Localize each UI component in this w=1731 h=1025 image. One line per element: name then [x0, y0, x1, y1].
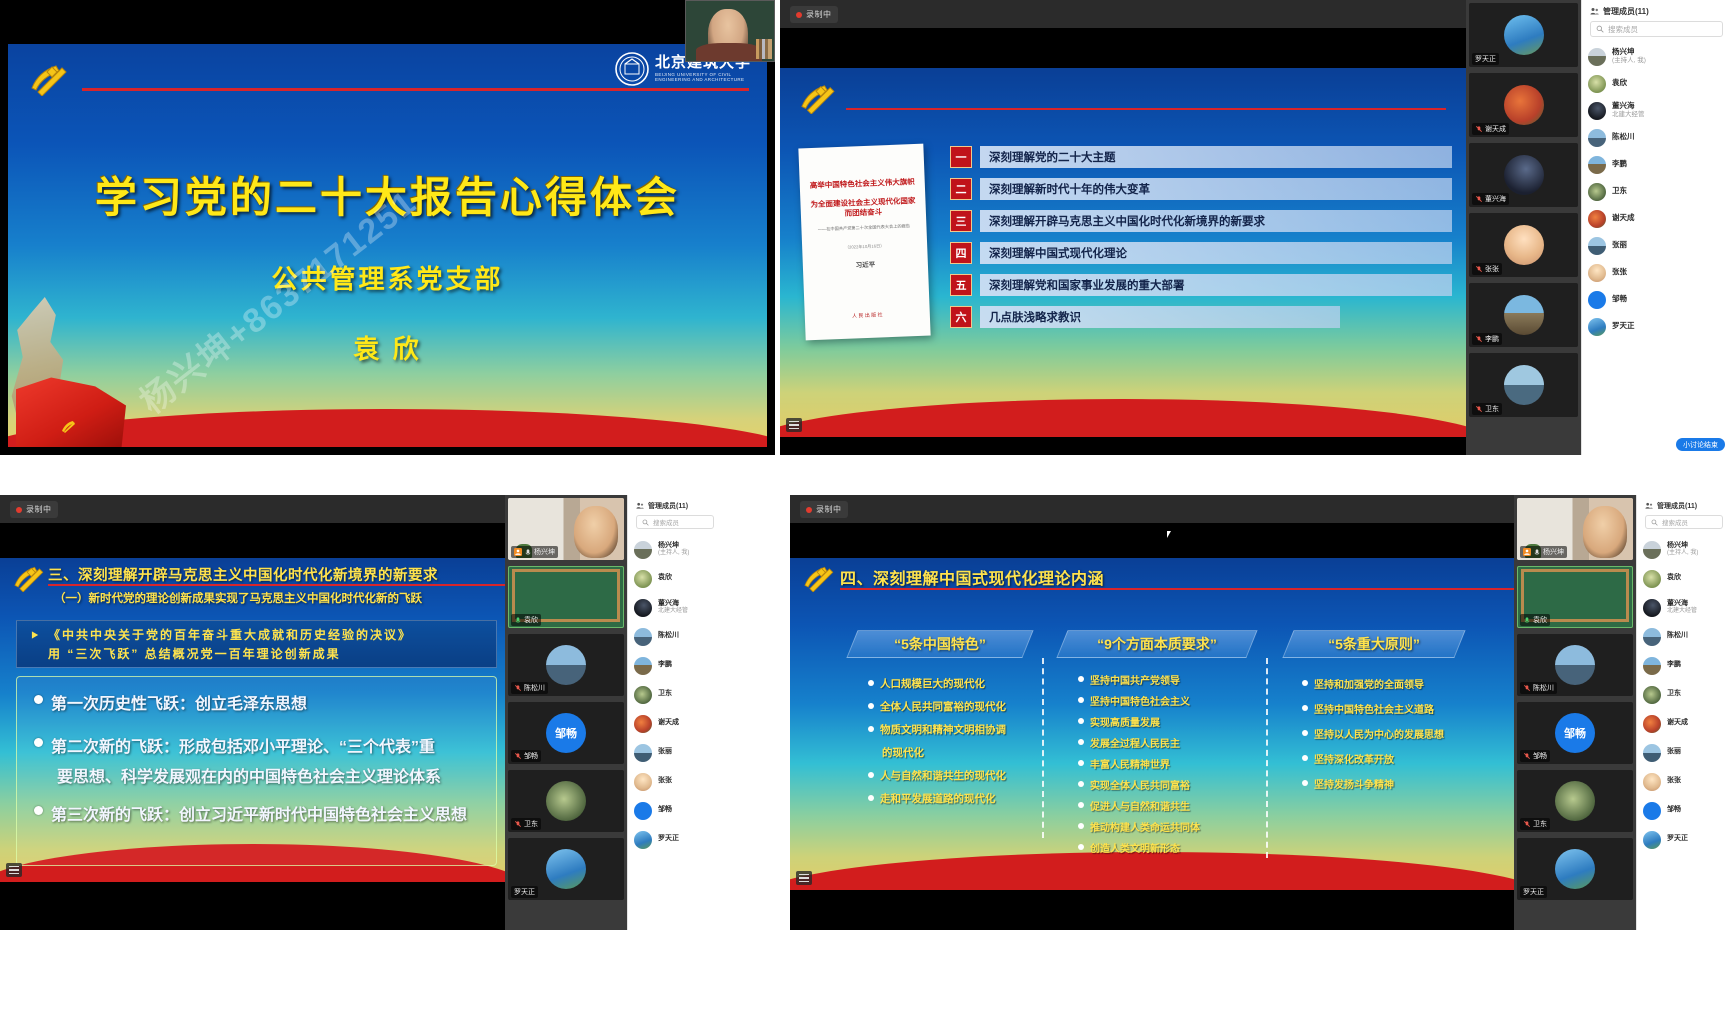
window-modernization: 录制中 四、深刻理解中国式现代化理论内涵	[790, 495, 1731, 930]
avatar	[634, 686, 652, 704]
agenda-item-label: 深刻理解开辟马克思主义中国化时代化新境界的新要求	[980, 210, 1452, 232]
tile-label: 杨兴坤	[511, 546, 558, 558]
participant-name: 陈松川	[1612, 133, 1635, 142]
participant-face	[574, 506, 618, 558]
column-item-text: 的现代化	[882, 745, 924, 760]
column-item: 全体人民共同富裕的现代化	[868, 699, 1006, 714]
agenda-item-number: 六	[950, 306, 972, 328]
mic-muted-icon	[1523, 820, 1531, 828]
bullet-dot-icon	[1302, 755, 1308, 761]
meeting-topbar-modernization: 录制中	[790, 495, 1514, 523]
participant-row[interactable]: 董兴海 北建大经管	[1588, 97, 1725, 124]
book-publisher: 人 民 出 版 社	[832, 310, 902, 320]
film-tile-active-speaker[interactable]: 袁欣	[508, 566, 624, 628]
avatar	[1643, 773, 1661, 791]
avatar	[634, 831, 652, 849]
search-placeholder-text: 搜索成员	[1662, 517, 1688, 527]
mod-divider	[840, 588, 1514, 590]
participant-name: 杨兴坤	[1667, 542, 1698, 550]
participant-name: 杨兴坤	[658, 542, 689, 550]
avatar	[1504, 295, 1544, 335]
participant-name: 邹畅	[1667, 806, 1681, 814]
column-item: 坚持中国共产党领导	[1078, 672, 1180, 687]
filmstrip-agenda[interactable]: 罗天正 谢天成 董兴海	[1466, 0, 1581, 455]
participants-panel-top: 管理成员(11) 搜索成员 杨兴坤 (主持人, 我)	[1581, 0, 1731, 455]
people-icon	[1645, 502, 1653, 510]
participant-row[interactable]: 张张	[634, 767, 716, 796]
tile-participant-name: 卫东	[1533, 819, 1547, 829]
book-subtitle: ——在中国共产党第二十次全国代表大会上的报告	[816, 223, 911, 233]
bullet-dot-icon	[1302, 705, 1308, 711]
search-icon	[1651, 519, 1658, 526]
presentation-organization: 公共管理系党支部	[8, 259, 767, 296]
book-title-line1: 高举中国特色社会主义伟大旗帜	[810, 177, 915, 191]
recording-badge: 录制中	[790, 6, 838, 23]
window-agenda: 录制中 高举中国	[780, 0, 1731, 455]
participant-name: 张张	[658, 777, 672, 785]
participant-row[interactable]: 李鹏	[1588, 151, 1725, 178]
participant-name: 袁欣	[1612, 79, 1627, 88]
mic-muted-icon	[514, 684, 522, 692]
participant-row[interactable]: 谢天成	[634, 709, 716, 738]
party-emblem-icon	[796, 82, 838, 114]
participant-role: 北建大经管	[1667, 608, 1697, 615]
tile-participant-name: 杨兴坤	[1543, 547, 1564, 557]
column-item-text: 坚持中国共产党领导	[1090, 672, 1180, 687]
bullet-dot-icon	[1078, 844, 1084, 850]
column-item-text: 实现高质量发展	[1090, 714, 1160, 729]
agenda-item-number: 五	[950, 274, 972, 296]
avatar	[1643, 744, 1661, 762]
participant-name: 谢天成	[1667, 719, 1688, 727]
slide-menu-icon[interactable]	[796, 871, 812, 885]
agenda-item-row[interactable]: 六 几点肤浅略求教识	[950, 306, 1340, 328]
bullet-dot-icon	[868, 703, 874, 709]
avatar	[634, 541, 652, 559]
participant-role: (主持人, 我)	[1612, 57, 1646, 64]
participant-name: 李鹏	[658, 661, 672, 669]
agenda-item-number: 一	[950, 146, 972, 168]
participant-name: 邹畅	[1612, 295, 1627, 304]
film-tile[interactable]: 谢天成	[1469, 73, 1578, 137]
column-item: 坚持深化改革开放	[1302, 751, 1394, 766]
film-tile[interactable]: 罗天正	[1517, 838, 1633, 900]
tile-label: 陈松川	[511, 682, 548, 694]
film-tile[interactable]: 董兴海	[1469, 143, 1578, 207]
bullet-dot-icon	[34, 806, 43, 815]
book-cover: 高举中国特色社会主义伟大旗帜 为全面建设社会主义现代化国家而团结奋斗 ——在中国…	[798, 144, 930, 341]
avatar	[1643, 802, 1661, 820]
film-tile[interactable]: 卫东	[508, 770, 624, 832]
flag-emblem-icon	[60, 419, 76, 433]
bullet-text: 要思想、科学发展观在内的中国特色社会主义理论体系	[57, 763, 441, 787]
quote-band: 《中共中央关于党的百年奋斗重大成就和历史经验的决议》 用 “三次飞跃” 总结概况…	[16, 620, 497, 668]
participants-header: 管理成员(11)	[628, 495, 722, 515]
participant-row[interactable]: 罗天正	[1643, 825, 1725, 854]
avatar	[1588, 129, 1606, 147]
column-item: 坚持发扬斗争精神	[1302, 776, 1394, 791]
slide-menu-icon[interactable]	[6, 863, 22, 877]
participant-row[interactable]: 邹畅	[634, 796, 716, 825]
participant-row[interactable]: 杨兴坤 (主持人, 我)	[634, 535, 716, 564]
agenda-stage: 录制中 高举中国	[780, 0, 1466, 455]
slide-modernization: 四、深刻理解中国式现代化理论内涵 “5条中国特色” 人口规模巨大的现代化 全体人…	[790, 558, 1514, 890]
university-name-en-2: ENGINEERING AND ARCHITECTURE	[655, 77, 751, 83]
participant-row[interactable]: 卫东	[1588, 178, 1725, 205]
avatar	[634, 570, 652, 588]
participant-row[interactable]: 邹畅	[1588, 286, 1725, 313]
avatar	[634, 744, 652, 762]
avatar	[1588, 318, 1606, 336]
column-item: 推动构建人类命运共同体	[1078, 819, 1200, 834]
column-header: “9个方面本质要求”	[1062, 630, 1252, 658]
agenda-item-row[interactable]: 一 深刻理解党的二十大主题	[950, 146, 1452, 168]
avatar	[634, 599, 652, 617]
participant-face	[1583, 506, 1627, 558]
bullet-item: 第一次历史性飞跃：创立毛泽东思想	[34, 690, 307, 714]
participant-name: 罗天正	[1667, 835, 1688, 843]
bullet-text: 第三次新的飞跃：创立习近平新时代中国特色社会主义思想	[51, 801, 467, 825]
bullet-dot-icon	[1078, 760, 1084, 766]
participant-row[interactable]: 陈松川	[1643, 622, 1725, 651]
mic-muted-icon	[514, 752, 522, 760]
column-item-text: 坚持和加强党的全面领导	[1314, 676, 1424, 691]
mouse-cursor-icon	[1167, 531, 1171, 538]
flag-decor	[16, 373, 126, 447]
column-separator	[1042, 658, 1044, 838]
recording-badge: 录制中	[10, 501, 58, 518]
column-item-text: 发展全过程人民民主	[1090, 735, 1180, 750]
mic-muted-icon	[1475, 405, 1483, 413]
tile-participant-name: 陈松川	[524, 683, 545, 693]
search-icon	[1596, 25, 1604, 33]
film-tile[interactable]: 李鹏	[1469, 283, 1578, 347]
participant-name: 卫东	[1612, 187, 1627, 196]
agenda-item-number: 二	[950, 178, 972, 200]
avatar	[634, 657, 652, 675]
participant-name: 袁欣	[658, 574, 672, 582]
participant-name: 罗天正	[1612, 322, 1635, 331]
avatar	[1504, 155, 1544, 195]
book-title-line2: 为全面建设社会主义现代化国家而团结奋斗	[810, 196, 916, 220]
agenda-item-row[interactable]: 二 深刻理解新时代十年的伟大变革	[950, 178, 1452, 200]
participants-count-label: 管理成员(11)	[1603, 6, 1649, 17]
slide-divider	[82, 88, 749, 91]
end-discussion-button[interactable]: 小讨论结束	[1676, 438, 1725, 451]
mic-icon	[524, 548, 532, 556]
tile-label: 卫东	[511, 818, 541, 830]
bullet-item: 第二次新的飞跃：形成包括邓小平理论、“三个代表”重	[34, 733, 435, 757]
mic-muted-icon	[514, 820, 522, 828]
film-tile[interactable]: 邹畅 邹畅	[1517, 702, 1633, 764]
avatar	[546, 645, 586, 685]
participant-row[interactable]: 董兴海 北建大经管	[1643, 593, 1725, 622]
participant-row[interactable]: 谢天成	[1643, 709, 1725, 738]
avatar	[634, 773, 652, 791]
avatar	[546, 849, 586, 889]
bullet-dot-icon	[1302, 680, 1308, 686]
agenda-item-label: 深刻理解中国式现代化理论	[980, 242, 1452, 264]
mic-icon	[1533, 548, 1541, 556]
tile-participant-name: 卫东	[524, 819, 538, 829]
film-tile[interactable]: 张张	[1469, 213, 1578, 277]
film-tile[interactable]: 杨兴坤	[508, 498, 624, 560]
participant-row[interactable]: 袁欣	[1588, 70, 1725, 97]
participants-list[interactable]: 杨兴坤 (主持人, 我) 袁欣 董兴海 北建大经管	[628, 535, 722, 930]
tile-label: 杨兴坤	[1520, 546, 1567, 558]
avatar	[634, 715, 652, 733]
participant-name: 谢天成	[658, 719, 679, 727]
tile-participant-name: 罗天正	[1475, 54, 1496, 64]
film-tile[interactable]: 罗天正	[1469, 3, 1578, 67]
avatar	[1643, 628, 1661, 646]
participant-name: 董兴海	[1667, 600, 1697, 608]
search-icon	[642, 519, 649, 526]
avatar	[1588, 102, 1606, 120]
participant-row[interactable]: 卫东	[634, 680, 716, 709]
tile-participant-name: 李鹏	[1485, 334, 1499, 344]
avatar	[1643, 657, 1661, 675]
participant-name: 袁欣	[1667, 574, 1681, 582]
column-item-text: 实现全体人民共同富裕	[1090, 777, 1190, 792]
participant-row[interactable]: 张丽	[1588, 232, 1725, 259]
party-emblem-icon	[26, 62, 70, 96]
university-seal-icon	[615, 52, 649, 86]
avatar	[1643, 715, 1661, 733]
requirements-stage: 录制中 三、深刻理解开辟马克思主义中国化时代化新境界的新要求	[0, 495, 505, 930]
participant-row[interactable]: 罗天正	[634, 825, 716, 854]
column-item: 走和平发展道路的现代化	[868, 791, 996, 806]
screenshot-root: 北京建筑大学 BEIJING UNIVERSITY OF CIVIL ENGIN…	[0, 0, 1731, 1025]
participant-row[interactable]: 张丽	[1643, 738, 1725, 767]
column-item: 坚持以人民为中心的发展思想	[1302, 726, 1444, 741]
recording-dot-icon	[806, 507, 812, 513]
slide-title: 北京建筑大学 BEIJING UNIVERSITY OF CIVIL ENGIN…	[8, 44, 767, 447]
column-item-text: 创造人类文明新形态	[1090, 840, 1180, 855]
film-tile[interactable]: 卫东	[1469, 353, 1578, 417]
agenda-item-label: 深刻理解新时代十年的伟大变革	[980, 178, 1452, 200]
participant-name: 谢天成	[1612, 214, 1635, 223]
bullet-dot-icon	[1078, 718, 1084, 724]
film-tile[interactable]: 陈松川	[1517, 634, 1633, 696]
film-tile[interactable]: 邹畅 邹畅	[508, 702, 624, 764]
bullet-dot-icon	[1078, 781, 1084, 787]
participant-row[interactable]: 张丽	[634, 738, 716, 767]
participants-list[interactable]: 杨兴坤 (主持人, 我) 袁欣 董兴海 北建大经管	[1582, 43, 1731, 455]
tile-participant-name: 卫东	[1485, 404, 1499, 414]
quote-line-2: 用 “三次飞跃” 总结概况党一百年理论创新成果	[31, 645, 341, 662]
slide-heading: 三、深刻理解开辟马克思主义中国化时代化新境界的新要求	[48, 564, 438, 585]
tile-participant-name: 董兴海	[1485, 194, 1506, 204]
agenda-item-row[interactable]: 三 深刻理解开辟马克思主义中国化时代化新境界的新要求	[950, 210, 1452, 232]
bullet-dot-icon	[1078, 697, 1084, 703]
presenter-name: 袁 欣	[8, 329, 767, 366]
column-item-text: 物质文明和精神文明相协调	[880, 722, 1006, 737]
bullet-dot-icon	[34, 738, 43, 747]
film-tile-active-speaker[interactable]: 袁欣	[1517, 566, 1633, 628]
avatar-initials: 邹畅	[1555, 713, 1595, 753]
participant-row[interactable]: 杨兴坤 (主持人, 我)	[1588, 43, 1725, 70]
party-emblem-icon	[10, 564, 46, 592]
participants-search-input[interactable]: 搜索成员	[636, 515, 714, 529]
bullet-item: 第三次新的飞跃：创立习近平新时代中国特色社会主义思想	[34, 801, 467, 825]
avatar-initials-text: 邹畅	[555, 725, 577, 741]
participant-name: 张丽	[1612, 241, 1627, 250]
bullet-dot-icon	[1078, 823, 1084, 829]
participants-header: 管理成员(11)	[1582, 0, 1731, 21]
window-title-slide: 北京建筑大学 BEIJING UNIVERSITY OF CIVIL ENGIN…	[0, 0, 775, 455]
participant-name: 张张	[1612, 268, 1627, 277]
tile-participant-name: 罗天正	[1523, 887, 1544, 897]
avatar	[1555, 849, 1595, 889]
recording-badge: 录制中	[800, 501, 848, 518]
column-item: 人口规模巨大的现代化	[868, 676, 985, 691]
participant-row[interactable]: 袁欣	[1643, 564, 1725, 593]
participants-search-input[interactable]: 搜索成员	[1645, 515, 1723, 529]
avatar	[1588, 75, 1606, 93]
column-item-text: 坚持中国特色社会主义	[1090, 693, 1190, 708]
modernization-stage: 录制中 四、深刻理解中国式现代化理论内涵	[790, 495, 1514, 930]
bullet-text: 第二次新的飞跃：形成包括邓小平理论、“三个代表”重	[51, 733, 435, 757]
tile-label: 李鹏	[1472, 333, 1502, 345]
participant-name: 董兴海	[658, 600, 688, 608]
film-tile[interactable]: 陈松川	[508, 634, 624, 696]
film-tile[interactable]: 卫东	[1517, 770, 1633, 832]
slide-menu-icon[interactable]	[786, 418, 802, 432]
tile-label: 袁欣	[1520, 614, 1550, 626]
participant-row[interactable]: 罗天正	[1588, 313, 1725, 340]
mic-active-icon	[514, 616, 522, 624]
participant-role: 北建大经管	[1612, 111, 1645, 118]
tile-label: 卫东	[1472, 403, 1502, 415]
avatar-initials-text: 邹畅	[1564, 725, 1586, 741]
column-item: 坚持和加强党的全面领导	[1302, 676, 1424, 691]
participant-name: 李鹏	[1612, 160, 1627, 169]
tile-participant-name: 陈松川	[1533, 683, 1554, 693]
avatar	[1643, 831, 1661, 849]
slide-requirements: 三、深刻理解开辟马克思主义中国化时代化新境界的新要求 （一）新时代党的理论创新成…	[0, 558, 505, 882]
search-placeholder-text: 搜索成员	[653, 517, 679, 527]
tile-label: 罗天正	[511, 886, 538, 898]
meeting-topbar-requirements: 录制中	[0, 495, 505, 523]
participant-row[interactable]: 谢天成	[1588, 205, 1725, 232]
column-item-text: 坚持以人民为中心的发展思想	[1314, 726, 1444, 741]
participant-row[interactable]: 李鹏	[1643, 651, 1725, 680]
bullet-dot-icon	[868, 726, 874, 732]
avatar	[1643, 541, 1661, 559]
column-item: 人与自然和谐共生的现代化	[868, 768, 1006, 783]
column-item: 发展全过程人民民主	[1078, 735, 1180, 750]
agenda-item-row[interactable]: 四 深刻理解中国式现代化理论	[950, 242, 1452, 264]
search-placeholder-text: 搜索成员	[1608, 24, 1638, 35]
avatar	[1588, 210, 1606, 228]
participant-name: 罗天正	[658, 835, 679, 843]
presenter-bookshelf	[756, 39, 772, 59]
window-requirements: 录制中 三、深刻理解开辟马克思主义中国化时代化新境界的新要求	[0, 495, 722, 930]
avatar	[1588, 264, 1606, 282]
column-item: 创造人类文明新形态	[1078, 840, 1180, 855]
agenda-item-row[interactable]: 五 深刻理解党和国家事业发展的重大部署	[950, 274, 1452, 296]
arrow-bullet-icon	[31, 630, 40, 640]
tile-label: 陈松川	[1520, 682, 1557, 694]
participant-row[interactable]: 张张	[1643, 767, 1725, 796]
avatar	[1588, 48, 1606, 66]
participant-name: 张张	[1667, 777, 1681, 785]
participant-row[interactable]: 杨兴坤 (主持人, 我)	[1643, 535, 1725, 564]
tile-participant-name: 袁欣	[524, 615, 538, 625]
filmstrip-requirements[interactable]: 杨兴坤 袁欣 陈松川	[505, 495, 627, 930]
column-item: 物质文明和精神文明相协调	[868, 722, 1006, 737]
tile-label: 邹畅	[511, 750, 541, 762]
avatar	[1555, 645, 1595, 685]
tile-participant-name: 杨兴坤	[534, 547, 555, 557]
participant-row[interactable]: 卫东	[1643, 680, 1725, 709]
filmstrip-modernization[interactable]: 杨兴坤 袁欣 陈松川	[1514, 495, 1636, 930]
presenter-self-view[interactable]	[685, 0, 775, 62]
column-item: 促进人与自然和谐共生	[1078, 798, 1190, 813]
people-icon	[1590, 7, 1599, 16]
bullet-dot-icon	[1302, 730, 1308, 736]
participant-name: 杨兴坤	[1612, 48, 1646, 57]
participant-name: 李鹏	[1667, 661, 1681, 669]
presenter-shoulders	[696, 43, 762, 61]
column-item-text: 人与自然和谐共生的现代化	[880, 768, 1006, 783]
tile-label: 邹畅	[1520, 750, 1550, 762]
participant-row[interactable]: 邹畅	[1643, 796, 1725, 825]
participants-list[interactable]: 杨兴坤 (主持人, 我) 袁欣 董兴海 北建大经管	[1637, 535, 1731, 930]
column-header: “5条中国特色”	[852, 630, 1028, 658]
avatar	[634, 802, 652, 820]
film-tile[interactable]: 罗天正	[508, 838, 624, 900]
tile-label: 董兴海	[1472, 193, 1509, 205]
tile-label: 袁欣	[511, 614, 541, 626]
slide-subheading: （一）新时代党的理论创新成果实现了马克思主义中国化时代化新的飞跃	[54, 590, 422, 606]
bullet-dot-icon	[868, 772, 874, 778]
participants-search-input[interactable]: 搜索成员	[1590, 21, 1723, 37]
mic-muted-icon	[1475, 265, 1483, 273]
participant-name: 陈松川	[658, 632, 679, 640]
mic-muted-icon	[1475, 125, 1483, 133]
tile-participant-name: 谢天成	[1485, 124, 1506, 134]
agenda-ground-front	[780, 399, 1466, 437]
participants-count-label: 管理成员(11)	[1657, 501, 1697, 511]
column-item-text: 人口规模巨大的现代化	[880, 676, 985, 691]
participant-row[interactable]: 董兴海 北建大经管	[634, 593, 716, 622]
participant-row[interactable]: 陈松川	[1588, 124, 1725, 151]
mic-muted-icon	[1475, 335, 1483, 343]
avatar	[1555, 781, 1595, 821]
participant-role: (主持人, 我)	[1667, 550, 1698, 557]
participant-row[interactable]: 袁欣	[634, 564, 716, 593]
avatar	[1504, 85, 1544, 125]
column-item-text: 走和平发展道路的现代化	[880, 791, 996, 806]
recording-dot-icon	[16, 507, 22, 513]
avatar	[1504, 225, 1544, 265]
avatar	[1588, 237, 1606, 255]
tile-label: 卫东	[1520, 818, 1550, 830]
film-tile[interactable]: 杨兴坤	[1517, 498, 1633, 560]
agenda-item-number: 四	[950, 242, 972, 264]
slide-heading: 四、深刻理解中国式现代化理论内涵	[840, 565, 1104, 589]
column-separator	[1266, 658, 1268, 858]
book-date: （2022年10月16日）	[825, 242, 905, 251]
participant-row[interactable]: 陈松川	[634, 622, 716, 651]
participant-row[interactable]: 张张	[1588, 259, 1725, 286]
avatar	[1504, 365, 1544, 405]
bullet-dot-icon	[868, 680, 874, 686]
recording-label: 录制中	[816, 504, 842, 515]
participant-row[interactable]: 李鹏	[634, 651, 716, 680]
